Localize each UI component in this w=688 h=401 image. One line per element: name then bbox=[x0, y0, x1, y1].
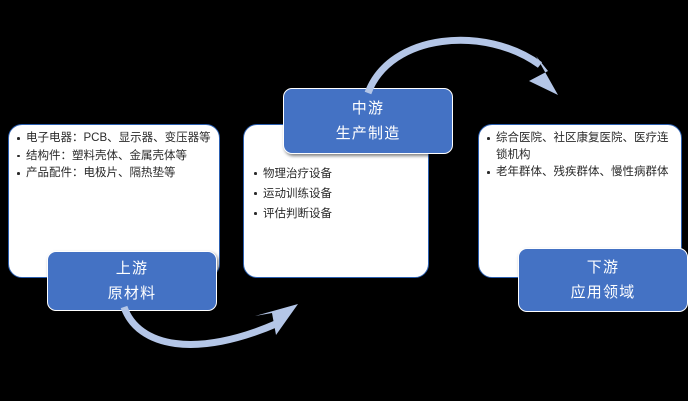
list-item: 运动训练设备 bbox=[252, 185, 423, 204]
list-item: 电子电器：PCB、显示器、变压器等 bbox=[15, 130, 214, 147]
badge-upstream: 上游 原材料 bbox=[47, 251, 217, 311]
list-item: 综合医院、社区康复医院、医疗连锁机构 bbox=[485, 130, 676, 163]
badge-upstream-line1: 上游 bbox=[116, 256, 148, 281]
badge-midstream: 中游 生产制造 bbox=[283, 88, 453, 154]
list-item: 产品配件：电极片、隔热垫等 bbox=[15, 165, 214, 182]
diagram-canvas: 电子电器：PCB、显示器、变压器等 结构件：塑料壳体、金属壳体等 产品配件：电极… bbox=[0, 0, 688, 401]
list-item: 评估判断设备 bbox=[252, 205, 423, 224]
list-item: 物理治疗设备 bbox=[252, 165, 423, 184]
badge-upstream-line2: 原材料 bbox=[108, 281, 157, 306]
badge-downstream-line1: 下游 bbox=[587, 255, 619, 280]
list-item: 结构件：塑料壳体、金属壳体等 bbox=[15, 148, 214, 165]
badge-downstream: 下游 应用领域 bbox=[518, 248, 688, 312]
bullet-list-downstream: 综合医院、社区康复医院、医疗连锁机构 老年群体、残疾群体、慢性病群体 bbox=[485, 130, 676, 182]
badge-midstream-line2: 生产制造 bbox=[336, 121, 401, 146]
bullet-list-upstream: 电子电器：PCB、显示器、变压器等 结构件：塑料壳体、金属壳体等 产品配件：电极… bbox=[15, 130, 214, 183]
bullet-list-midstream: 物理治疗设备 运动训练设备 评估判断设备 bbox=[252, 165, 423, 225]
list-item: 老年群体、残疾群体、慢性病群体 bbox=[485, 164, 676, 181]
badge-downstream-line2: 应用领域 bbox=[571, 280, 636, 305]
badge-midstream-line1: 中游 bbox=[352, 96, 384, 121]
